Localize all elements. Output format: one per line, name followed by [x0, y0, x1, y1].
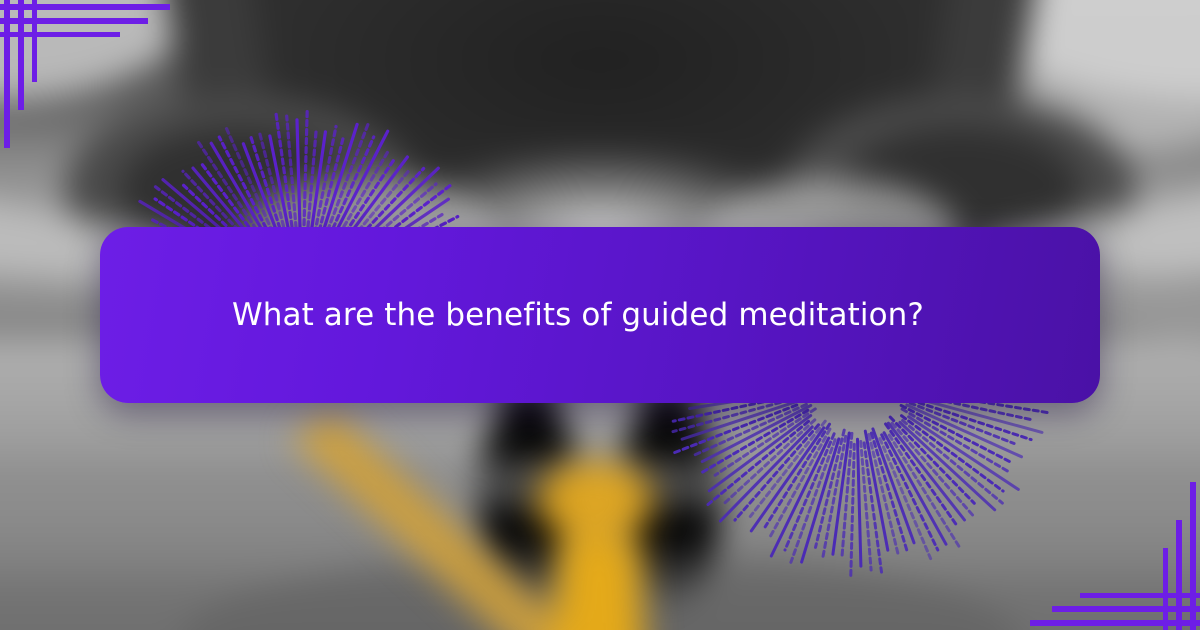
question-card: What are the benefits of guided meditati…	[100, 227, 1100, 403]
question-text: What are the benefits of guided meditati…	[100, 296, 984, 335]
question-card-graphic: What are the benefits of guided meditati…	[0, 0, 1200, 630]
